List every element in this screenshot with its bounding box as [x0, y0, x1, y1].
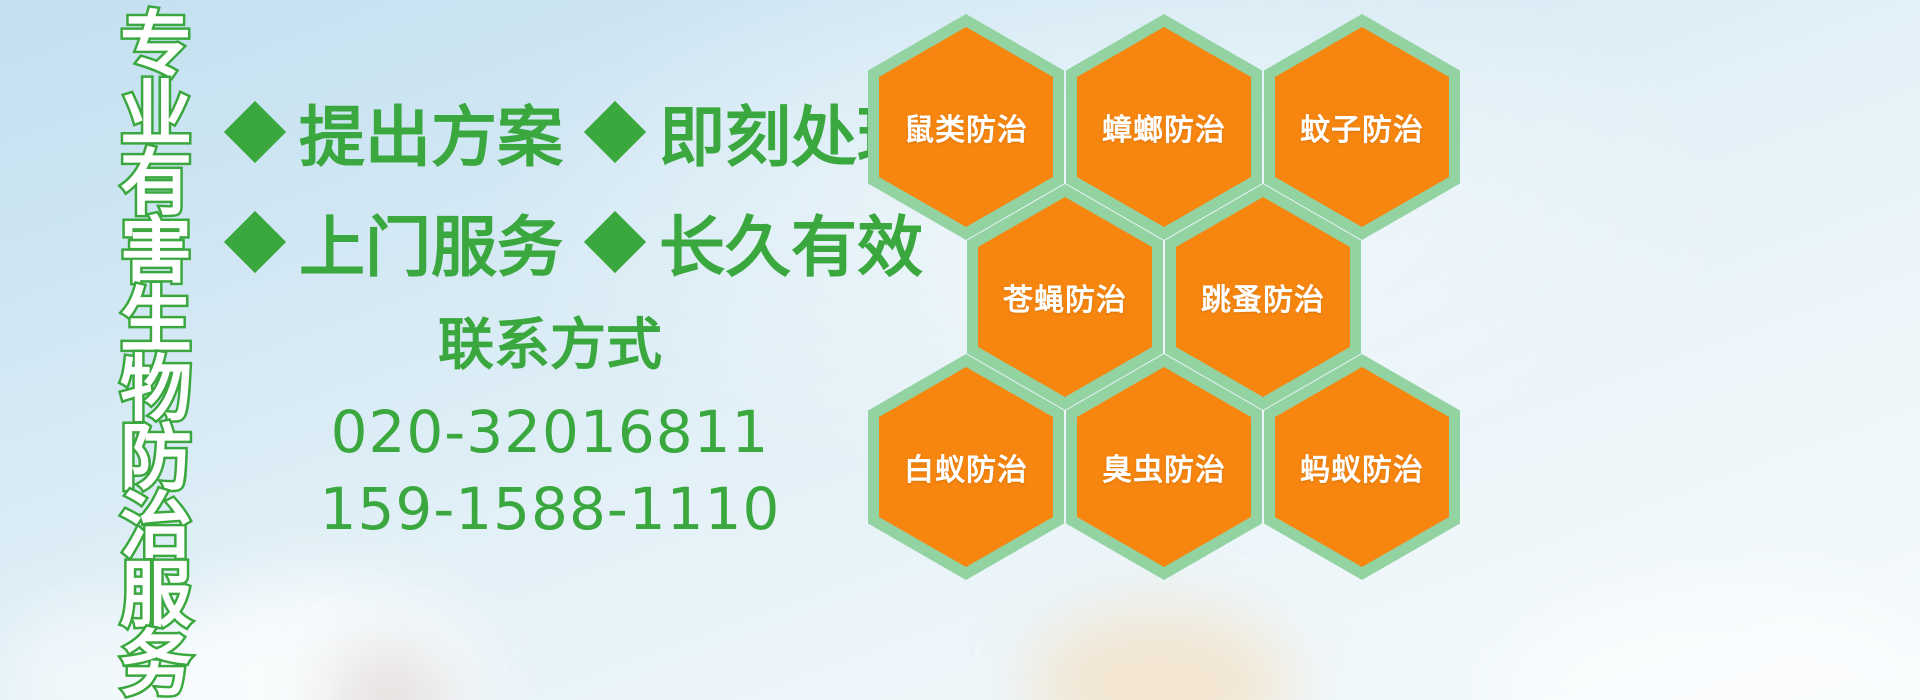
pest-control-banner: 专 业 有 害 生 物 防 治 服 务 提出方案 即刻处理 上门服务 长久有效 …: [0, 0, 1920, 700]
hex-label: 白蚁防治: [904, 445, 1028, 489]
diamond-icon: [224, 101, 286, 163]
hex-label: 鼠类防治: [904, 105, 1028, 149]
feature-row: 提出方案 即刻处理: [233, 84, 923, 180]
vertical-headline-char: 治: [120, 493, 192, 562]
phone-number-landline[interactable]: 020-32016811: [300, 394, 800, 471]
hex-label: 苍蝇防治: [1003, 275, 1127, 319]
vertical-headline-char: 专: [120, 12, 192, 81]
vertical-headline: 专 业 有 害 生 物 防 治 服 务: [108, 12, 204, 700]
contact-title: 联系方式: [300, 312, 800, 378]
phone-number-mobile[interactable]: 159-1588-1110: [300, 471, 800, 548]
vertical-headline-char: 防: [120, 425, 192, 494]
feature-label: 提出方案: [299, 84, 563, 180]
hex-label: 蚂蚁防治: [1300, 445, 1424, 489]
vertical-headline-char: 物: [120, 356, 192, 425]
feature-label: 上门服务: [299, 194, 563, 290]
hex-label: 臭虫防治: [1102, 445, 1226, 489]
hex-service-bedbug[interactable]: 臭虫防治: [1066, 354, 1262, 580]
diamond-icon: [224, 211, 286, 273]
vertical-headline-char: 有: [120, 150, 192, 219]
hex-service-termite[interactable]: 白蚁防治: [868, 354, 1064, 580]
hex-label: 跳蚤防治: [1201, 275, 1325, 319]
vertical-headline-char: 生: [120, 287, 192, 356]
contact-block: 联系方式 020-32016811 159-1588-1110: [300, 312, 800, 547]
vertical-headline-char: 业: [120, 81, 192, 150]
background-blur-blob: [330, 650, 450, 700]
vertical-headline-char: 服: [120, 562, 192, 631]
vertical-headline-char: 害: [120, 218, 192, 287]
feature-row: 上门服务 长久有效: [233, 194, 923, 290]
hex-service-ant[interactable]: 蚂蚁防治: [1264, 354, 1460, 580]
service-hexagon-grid: 鼠类防治 蟑螂防治 蚊子防治 苍蝇防治 跳蚤防治 白蚁防治: [862, 0, 1462, 700]
background-blur-blob: [1500, 580, 1920, 700]
hex-label: 蟑螂防治: [1102, 105, 1226, 149]
diamond-icon: [584, 101, 646, 163]
vertical-headline-char: 务: [120, 631, 192, 700]
hex-label: 蚊子防治: [1300, 105, 1424, 149]
diamond-icon: [584, 211, 646, 273]
